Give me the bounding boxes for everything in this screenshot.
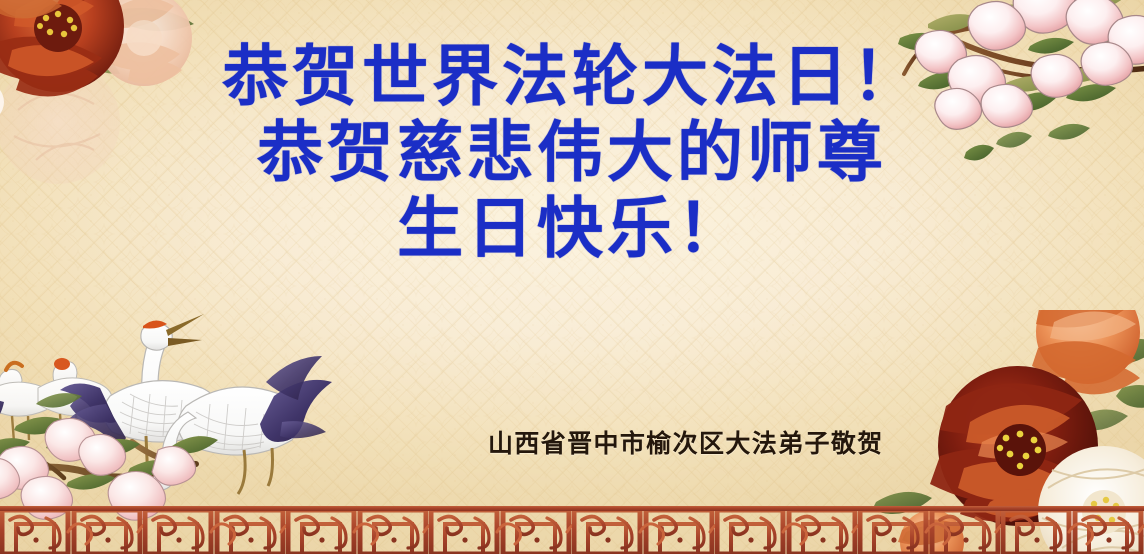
- title-line-2: 恭贺慈悲伟大的师尊: [0, 120, 1144, 186]
- title-line-1: 恭贺世界法轮大法日！: [0, 44, 1144, 110]
- signature-text: 山西省晋中市榆次区大法弟子敬贺: [488, 424, 884, 460]
- greeting-card: 恭贺世界法轮大法日！ 恭贺慈悲伟大的师尊 生日快乐！ 山西省晋中市榆次区大法弟子…: [0, 0, 1144, 554]
- greeting-title-block: 恭贺世界法轮大法日！ 恭贺慈悲伟大的师尊 生日快乐！: [0, 44, 1144, 262]
- bottom-fretwork-railing: [0, 506, 1144, 554]
- title-line-3: 生日快乐！: [0, 196, 1144, 262]
